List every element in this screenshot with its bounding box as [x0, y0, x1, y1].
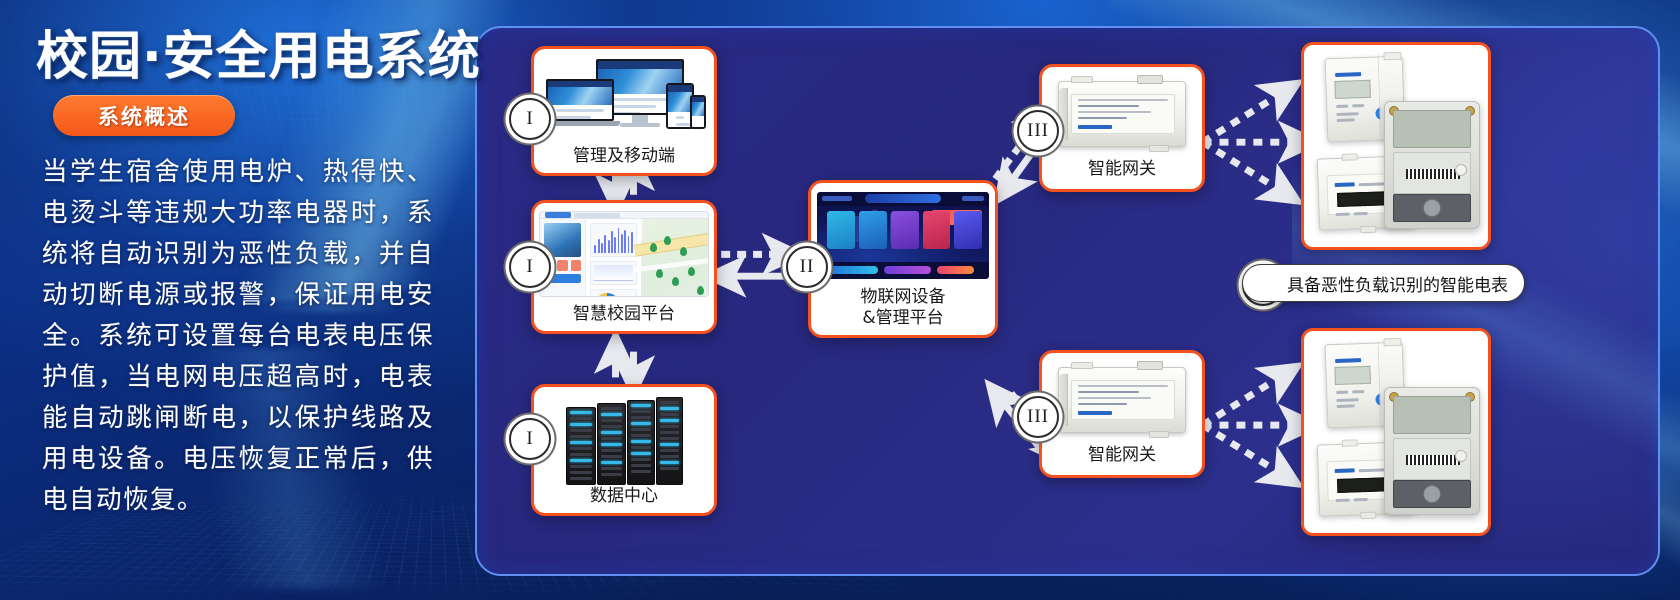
smart-gateway-device-icon [1058, 367, 1186, 433]
campus-platform-dashboard-icon [539, 211, 709, 297]
node-iot-platform-label-line1: 物联网设备 [819, 287, 987, 308]
arrow-gateway-bottom-meters [1203, 374, 1301, 475]
page-title: 校园·安全用电系统 [36, 14, 481, 89]
node-gateway-bottom[interactable]: 智能网关 [1039, 350, 1205, 478]
node-gateway-top[interactable]: 智能网关 [1039, 64, 1205, 192]
panel-meters-top[interactable] [1301, 42, 1491, 250]
node-datacenter[interactable]: 数据中心 [531, 384, 717, 516]
arrow-campus-datacenter [616, 352, 634, 378]
architecture-diagram-panel: 管理及移动端 I [475, 26, 1660, 576]
badge-datacenter: I [509, 418, 551, 460]
overview-body-text: 当学生宿舍使用电炉、热得快、电烫斗等违规大功率电器时，系统将自动识别为恶性负载，… [42, 152, 434, 521]
badge-gateway-bottom: III [1017, 396, 1059, 438]
node-campus-platform-label: 智慧校园平台 [541, 304, 707, 325]
multi-device-screens-icon [540, 57, 708, 140]
iot-dashboard-icon [817, 192, 989, 279]
arrow-gateway-top-meters [1203, 92, 1301, 193]
panel-meters-bottom[interactable] [1301, 328, 1491, 536]
badge-management: I [509, 98, 551, 140]
overview-badge: 系统概述 [53, 95, 235, 136]
badge-campus-platform: I [509, 246, 551, 288]
node-gateway-top-label: 智能网关 [1048, 159, 1196, 180]
node-management[interactable]: 管理及移动端 [531, 46, 717, 176]
smart-gateway-device-icon [1058, 81, 1186, 147]
node-gateway-bottom-label: 智能网关 [1048, 445, 1196, 466]
arrow-campus-iot [721, 254, 794, 276]
node-datacenter-label: 数据中心 [540, 486, 708, 507]
node-campus-platform[interactable]: 智慧校园平台 [531, 200, 717, 334]
three-phase-meter-icon [1384, 387, 1480, 515]
intro-column: 校园·安全用电系统 系统概述 当学生宿舍使用电炉、热得快、电烫斗等违规大功率电器… [0, 0, 470, 600]
badge-iot-platform: II [786, 246, 828, 288]
meter-capability-pill-label: 具备恶性负载识别的智能电表 [1287, 271, 1508, 296]
overview-badge-label: 系统概述 [98, 101, 190, 131]
server-rack-icon [564, 397, 684, 480]
meter-capability-pill[interactable]: 具备恶性负载识别的智能电表 [1242, 264, 1525, 302]
node-management-label: 管理及移动端 [540, 146, 708, 167]
node-iot-platform[interactable]: 物联网设备 &管理平台 [808, 180, 998, 338]
badge-gateway-top: III [1017, 110, 1059, 152]
node-iot-platform-label-line2: &管理平台 [819, 308, 987, 329]
three-phase-meter-icon [1384, 101, 1480, 229]
